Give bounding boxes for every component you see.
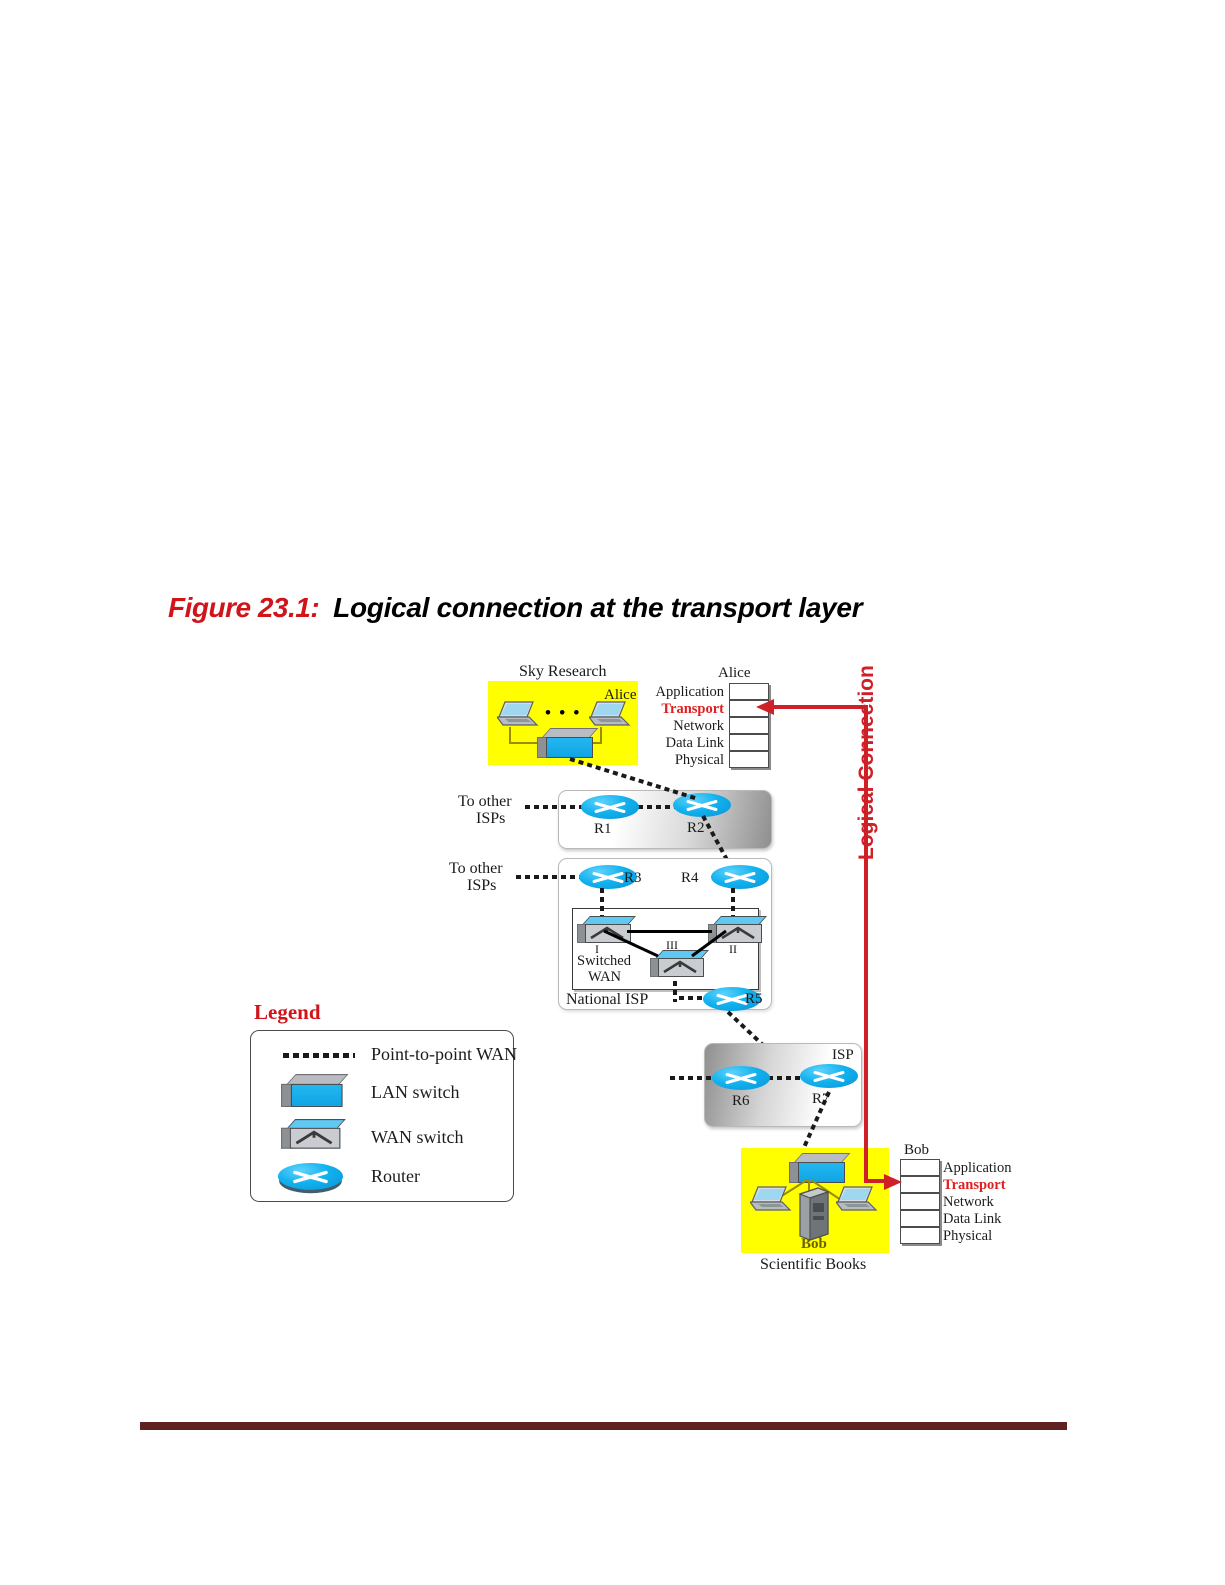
wan-switch-link	[600, 928, 670, 960]
sky-research-title: Sky Research	[519, 663, 607, 681]
alice-layer-label-application: Application	[650, 684, 724, 701]
wan-switch-label-i: I	[595, 942, 599, 957]
router-label-r4: R4	[681, 870, 699, 887]
laptop-icon	[836, 1185, 878, 1215]
router-label-r3: R3	[624, 870, 642, 887]
legend-label-point-to-point-wan: Point-to-point WAN	[371, 1044, 517, 1065]
wan-link	[525, 805, 583, 809]
alice-layer-box-network	[729, 717, 769, 734]
national-isp-label: National ISP	[566, 991, 648, 1009]
router-icon	[278, 1163, 343, 1193]
laptop-icon	[589, 700, 631, 730]
legend-box: Point-to-point WAN LAN switch WAN switch…	[250, 1030, 514, 1202]
router-icon-r6	[712, 1066, 770, 1093]
page-title: Figure 23.1:Logical connection at the tr…	[168, 592, 862, 624]
alice-stack-owner: Alice	[718, 665, 750, 682]
wan-link	[516, 875, 580, 879]
switched-wan-label-2: WAN	[588, 969, 621, 986]
bob-host-label: Bob	[801, 1236, 827, 1253]
legend-label-lan-switch: LAN switch	[371, 1082, 460, 1103]
bob-layer-label-transport: Transport	[943, 1177, 1006, 1194]
bob-layer-label-datalink: Data Link	[943, 1211, 1001, 1228]
to-other-isps-label-nat-2: ISPs	[467, 877, 496, 895]
bob-layer-box-application	[900, 1159, 940, 1176]
legend-title: Legend	[254, 1000, 321, 1025]
bob-layer-box-network	[900, 1193, 940, 1210]
to-other-isps-label-top-1: To other	[458, 793, 512, 811]
router-label-r6: R6	[732, 1093, 750, 1110]
alice-layer-box-physical	[729, 751, 769, 768]
logical-connection-caption: Logical Connection	[855, 665, 879, 860]
legend-label-router: Router	[371, 1166, 420, 1187]
bottom-isp-label: ISP	[832, 1047, 854, 1064]
alice-layer-box-datalink	[729, 734, 769, 751]
logical-connection-line	[772, 705, 868, 709]
wan-switch-link	[688, 928, 733, 960]
wan-link	[731, 888, 735, 918]
alice-layer-label-transport: Transport	[650, 701, 724, 718]
scientific-books-title: Scientific Books	[760, 1256, 866, 1274]
figure-number: Figure 23.1:	[168, 592, 319, 623]
to-other-isps-label-top-2: ISPs	[476, 810, 505, 828]
wan-link	[679, 996, 706, 1000]
legend-label-wan-switch: WAN switch	[371, 1127, 464, 1148]
router-icon-r4	[711, 865, 769, 892]
laptop-icon	[497, 700, 539, 730]
router-label-r1: R1	[594, 821, 612, 838]
sky-research-ellipsis: • • •	[545, 703, 581, 723]
alice-layer-label-network: Network	[650, 718, 724, 735]
bob-layer-label-physical: Physical	[943, 1228, 992, 1245]
wan-link	[670, 1076, 718, 1080]
bob-layer-box-physical	[900, 1227, 940, 1244]
dotted-line-icon	[283, 1053, 355, 1058]
figure-caption: Logical connection at the transport laye…	[333, 592, 862, 623]
router-label-r5: R5	[745, 991, 763, 1008]
footer-rule	[140, 1422, 1067, 1430]
logical-connection-arrow-bob	[884, 1173, 904, 1191]
bob-stack-owner: Bob	[904, 1142, 929, 1159]
to-other-isps-label-nat-1: To other	[449, 860, 503, 878]
bob-layer-box-datalink	[900, 1210, 940, 1227]
alice-layer-label-datalink: Data Link	[650, 735, 724, 752]
wan-link	[600, 888, 604, 918]
desktop-tower-icon	[796, 1186, 830, 1242]
wan-link	[560, 755, 720, 805]
bob-layer-label-application: Application	[943, 1160, 1011, 1177]
bob-layer-box-transport	[900, 1176, 940, 1193]
bob-layer-label-network: Network	[943, 1194, 994, 1211]
laptop-icon	[750, 1185, 792, 1215]
logical-connection-arrow-alice	[756, 697, 776, 717]
router-icon-r7	[800, 1064, 858, 1091]
